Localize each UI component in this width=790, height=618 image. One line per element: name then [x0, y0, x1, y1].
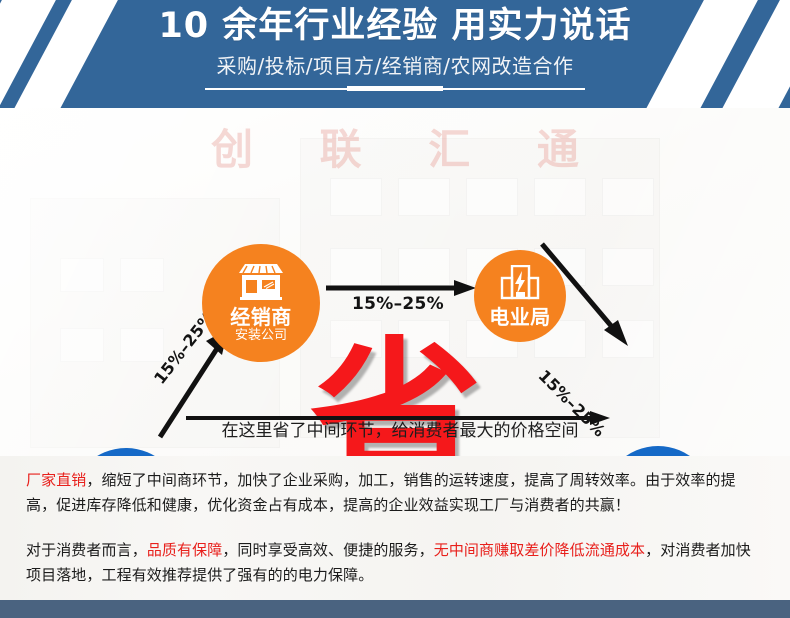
node-dealer-label: 经销商 — [230, 307, 292, 328]
header-title: 10 余年行业经验 用实力说话 — [158, 6, 631, 47]
node-dealer[interactable]: 经销商 安装公司 — [202, 244, 320, 362]
highlighted-text-run: 品质有保障 — [147, 541, 223, 559]
bottom-arrow-caption: 在这里省了中间环节，给消费者最大的价格空间 — [200, 416, 600, 441]
description-paragraph-1: 厂家直销，缩短了中间商环节，加快了企业采购，加工，销售的运转速度，提高了周转效率… — [26, 468, 764, 518]
header-divider — [205, 86, 585, 91]
text-run: 对于消费者而言， — [26, 541, 147, 559]
text-run: ，同时享受高效、便捷的服务， — [222, 541, 433, 559]
highlighted-text-run: 厂家直销 — [26, 471, 86, 489]
diagram-stage: 创 联 汇 通 省 — [0, 108, 790, 456]
promo-banner-page: 10 余年行业经验 用实力说话 采购/投标/项目方/经销商/农网改造合作 — [0, 0, 790, 618]
arrow-label-dealer-to-bureau: 15%–25% — [352, 294, 444, 314]
footer-bar — [0, 600, 790, 618]
page-header: 10 余年行业经验 用实力说话 采购/投标/项目方/经销商/农网改造合作 — [0, 0, 790, 108]
description-paragraph-2: 对于消费者而言，品质有保障，同时享受高效、便捷的服务，无中间商赚取差价降低流通成… — [26, 538, 764, 588]
text-run: ，缩短了中间商环节，加快了企业采购，加工，销售的运转速度，提高了周转效率。由于效… — [26, 471, 736, 514]
description-block: 厂家直销，缩短了中间商环节，加快了企业采购，加工，销售的运转速度，提高了周转效率… — [0, 456, 790, 600]
node-dealer-sublabel: 安装公司 — [235, 329, 287, 343]
storefront-icon — [235, 263, 287, 305]
power-building-icon — [499, 265, 541, 305]
node-bureau[interactable]: 电业局 — [474, 250, 566, 342]
highlighted-text-run: 无中间商赚取差价降低流通成本 — [434, 541, 645, 559]
header-subtitle: 采购/投标/项目方/经销商/农网改造合作 — [217, 50, 574, 79]
header-divider-center — [347, 86, 443, 91]
node-bureau-label: 电业局 — [489, 307, 551, 328]
background-watermark: 创 联 汇 通 — [0, 116, 790, 177]
